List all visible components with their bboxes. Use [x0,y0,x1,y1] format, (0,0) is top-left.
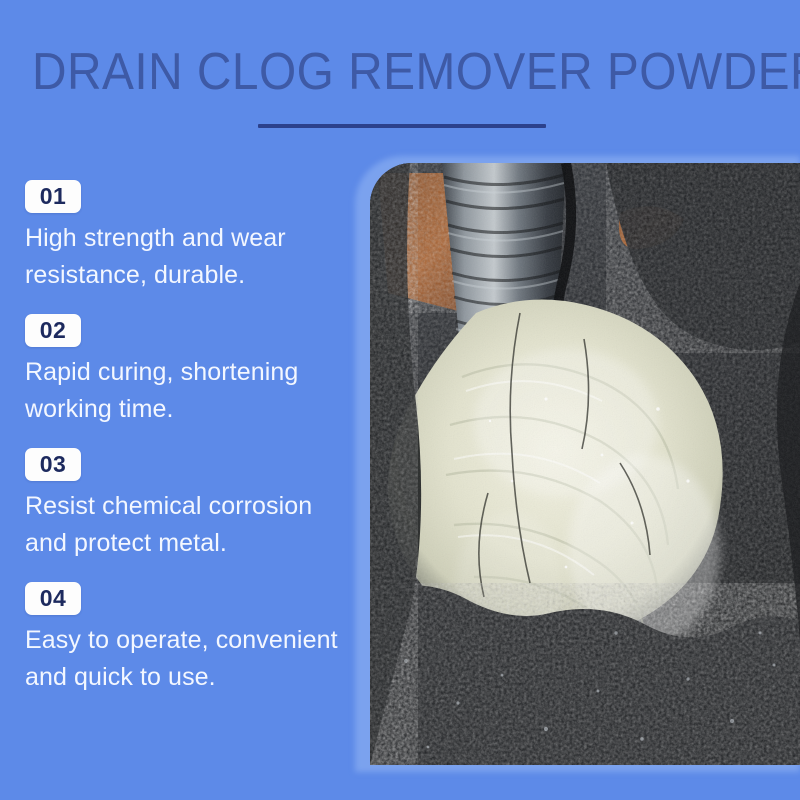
product-application-photo [370,163,800,765]
feature-number-badge: 04 [25,582,81,615]
photo-illustration [370,163,800,765]
feature-description: Resist chemical corrosion and protect me… [25,488,350,562]
product-feature-poster: DRAIN CLOG REMOVER POWDER 01 High streng… [0,0,800,800]
title-block: DRAIN CLOG REMOVER POWDER [0,44,800,100]
feature-number-badge: 02 [25,314,81,347]
title-underline-rule [258,124,546,128]
page-title: DRAIN CLOG REMOVER POWDER [32,44,768,100]
feature-description: Easy to operate, convenient and quick to… [25,622,350,696]
feature-item-02: 02 Rapid curing, shortening working time… [25,314,355,428]
feature-number-badge: 03 [25,448,81,481]
feature-item-03: 03 Resist chemical corrosion and protect… [25,448,355,562]
feature-item-01: 01 High strength and wear resistance, du… [25,180,355,294]
feature-description: Rapid curing, shortening working time. [25,354,350,428]
feature-item-04: 04 Easy to operate, convenient and quick… [25,582,355,696]
feature-description: High strength and wear resistance, durab… [25,220,350,294]
feature-number-badge: 01 [25,180,81,213]
feature-list: 01 High strength and wear resistance, du… [25,180,355,716]
